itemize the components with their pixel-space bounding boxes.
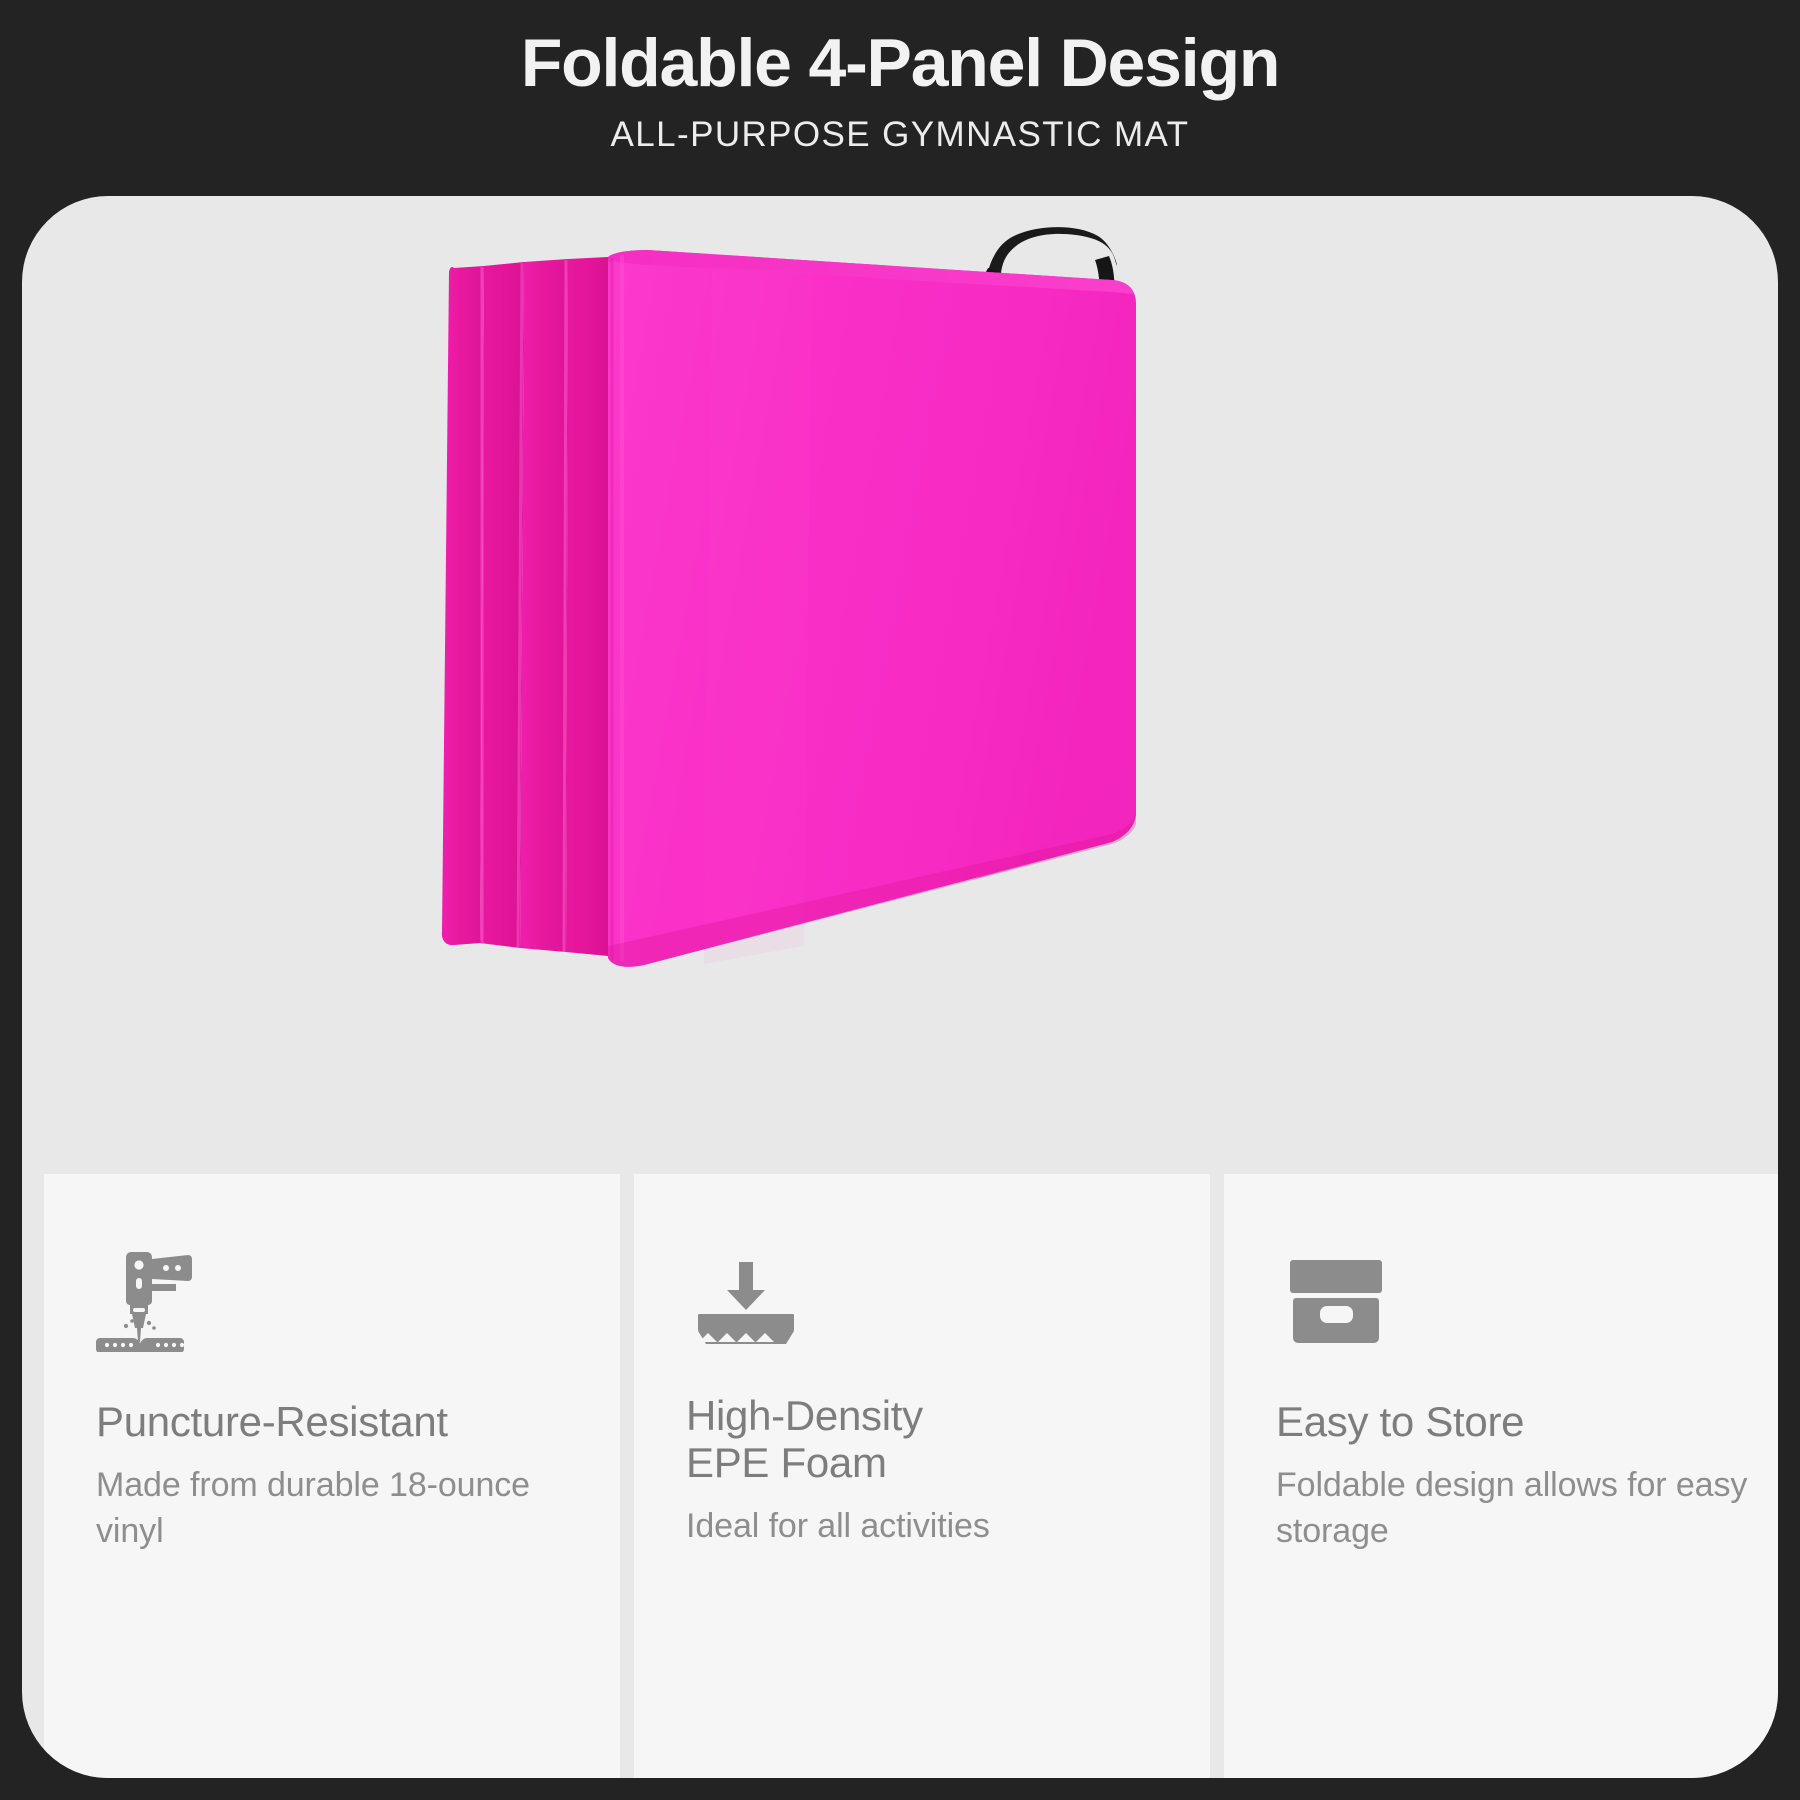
storage-box-icon xyxy=(1276,1248,1396,1352)
product-image xyxy=(22,196,1778,996)
feature-card-title: High-Density EPE Foam xyxy=(686,1392,1158,1486)
feature-card-puncture-resistant: Puncture-Resistant Made from durable 18-… xyxy=(44,1174,620,1778)
feature-card-description: Ideal for all activities xyxy=(686,1504,1158,1550)
gymnastic-mat-graphic xyxy=(412,246,1172,986)
page-title: Foldable 4-Panel Design xyxy=(521,28,1279,99)
feature-card-list: Puncture-Resistant Made from durable 18-… xyxy=(44,1174,1778,1778)
infographic-root: Foldable 4-Panel Design ALL-PURPOSE GYMN… xyxy=(0,0,1800,1800)
header-banner: Foldable 4-Panel Design ALL-PURPOSE GYMN… xyxy=(0,0,1800,196)
feature-card-description: Foldable design allows for easy storage xyxy=(1276,1463,1748,1554)
arrow-down-onto-foam-icon xyxy=(686,1248,806,1352)
hero-panel: Puncture-Resistant Made from durable 18-… xyxy=(22,196,1778,1778)
feature-card-description: Made from durable 18-ounce vinyl xyxy=(96,1463,568,1554)
drill-puncture-icon xyxy=(96,1248,216,1352)
page-subtitle: ALL-PURPOSE GYMNASTIC MAT xyxy=(611,115,1190,155)
feature-card-title: Easy to Store xyxy=(1276,1398,1748,1445)
feature-card-easy-to-store: Easy to Store Foldable design allows for… xyxy=(1224,1174,1778,1778)
feature-card-title: Puncture-Resistant xyxy=(96,1398,568,1445)
feature-card-high-density-epe-foam: High-Density EPE Foam Ideal for all acti… xyxy=(634,1174,1210,1778)
